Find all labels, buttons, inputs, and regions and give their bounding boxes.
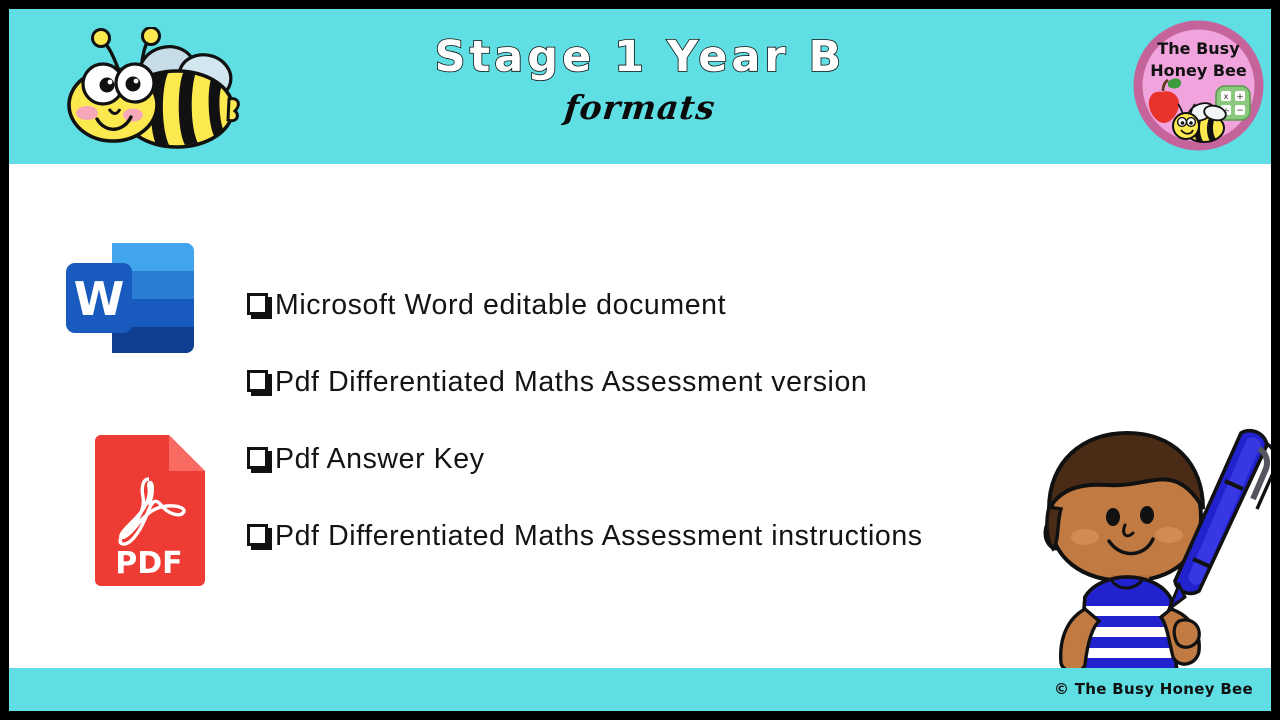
svg-text:+: + [1236, 93, 1244, 103]
list-item[interactable]: Microsoft Word editable document [247, 267, 1047, 344]
pdf-icon-label: PDF [115, 546, 182, 581]
list-item[interactable]: Pdf Differentiated Maths Assessment vers… [247, 344, 1047, 421]
logo-line2: Honey Bee [1150, 61, 1247, 80]
svg-text:−: − [1236, 106, 1244, 116]
boy-holding-pen-illustration [1029, 413, 1271, 675]
list-item[interactable]: Pdf Answer Key [247, 421, 1047, 498]
list-item-label: Pdf Answer Key [275, 443, 485, 476]
page-subtitle: formats [9, 88, 1271, 127]
list-item-label: Pdf Differentiated Maths Assessment inst… [275, 520, 923, 553]
logo-line1: The Busy [1157, 39, 1240, 58]
checkbox-icon[interactable] [247, 447, 271, 472]
svg-text:x: x [1224, 92, 1229, 101]
header-banner: Stage 1 Year B formats The Busy Honey Be… [9, 9, 1271, 164]
checkbox-icon[interactable] [247, 293, 271, 318]
page-title: Stage 1 Year B [9, 35, 1271, 80]
copyright-text: © The Busy Honey Bee [1054, 680, 1253, 698]
title-group: Stage 1 Year B formats [9, 9, 1271, 127]
word-icon-letter: W [74, 272, 125, 326]
list-item-label: Microsoft Word editable document [275, 289, 726, 322]
checkbox-icon[interactable] [247, 370, 271, 395]
list-item[interactable]: Pdf Differentiated Maths Assessment inst… [247, 498, 1047, 575]
footer-banner: © The Busy Honey Bee [9, 668, 1271, 711]
microsoft-word-icon: W [64, 239, 194, 357]
list-item-label: Pdf Differentiated Maths Assessment vers… [275, 366, 867, 399]
formats-checklist: Microsoft Word editable document Pdf Dif… [247, 267, 1047, 575]
checkbox-icon[interactable] [247, 524, 271, 549]
brand-logo: The Busy Honey Bee x + ÷ − [1131, 18, 1266, 153]
slide-canvas: Stage 1 Year B formats The Busy Honey Be… [9, 9, 1271, 711]
pdf-file-icon: PDF [85, 433, 213, 588]
